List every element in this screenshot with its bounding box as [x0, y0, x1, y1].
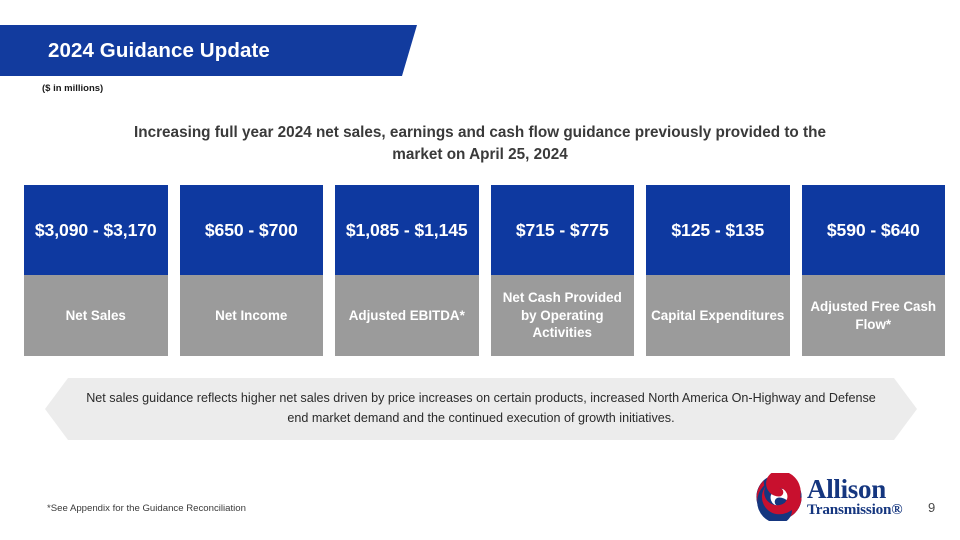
- metric-card: $125 - $135 Capital Expenditures: [646, 185, 790, 356]
- metric-card: $650 - $700 Net Income: [180, 185, 324, 356]
- page-title: 2024 Guidance Update: [48, 39, 270, 63]
- callout-text: Net sales guidance reflects higher net s…: [86, 389, 876, 428]
- metric-card: $3,090 - $3,170 Net Sales: [24, 185, 168, 356]
- metric-label: Adjusted EBITDA*: [335, 275, 479, 356]
- logo-wordmark: Allison Transmission®: [807, 476, 902, 517]
- metric-label: Net Income: [180, 275, 324, 356]
- title-banner: 2024 Guidance Update: [0, 25, 417, 76]
- metric-card-row: $3,090 - $3,170 Net Sales $650 - $700 Ne…: [24, 185, 945, 356]
- metric-value: $715 - $775: [491, 185, 635, 275]
- units-note: ($ in millions): [42, 83, 103, 94]
- metric-value: $3,090 - $3,170: [24, 185, 168, 275]
- metric-value: $590 - $640: [802, 185, 946, 275]
- callout-banner: Net sales guidance reflects higher net s…: [45, 378, 917, 440]
- metric-card: $590 - $640 Adjusted Free Cash Flow*: [802, 185, 946, 356]
- metric-label: Net Sales: [24, 275, 168, 356]
- footnote-text: *See Appendix for the Guidance Reconcili…: [47, 503, 246, 514]
- metric-label: Capital Expenditures: [646, 275, 790, 356]
- metric-label: Net Cash Provided by Operating Activitie…: [491, 275, 635, 356]
- metric-label: Adjusted Free Cash Flow*: [802, 275, 946, 356]
- allison-swirl-icon: [755, 473, 803, 521]
- metric-value: $125 - $135: [646, 185, 790, 275]
- metric-value: $1,085 - $1,145: [335, 185, 479, 275]
- page-number: 9: [928, 500, 935, 515]
- metric-value: $650 - $700: [180, 185, 324, 275]
- logo-allison-text: Allison: [807, 476, 902, 503]
- metric-card: $715 - $775 Net Cash Provided by Operati…: [491, 185, 635, 356]
- allison-transmission-logo: Allison Transmission®: [755, 472, 927, 522]
- metric-card: $1,085 - $1,145 Adjusted EBITDA*: [335, 185, 479, 356]
- logo-transmission-text: Transmission®: [807, 502, 902, 517]
- headline-text: Increasing full year 2024 net sales, ear…: [110, 122, 850, 165]
